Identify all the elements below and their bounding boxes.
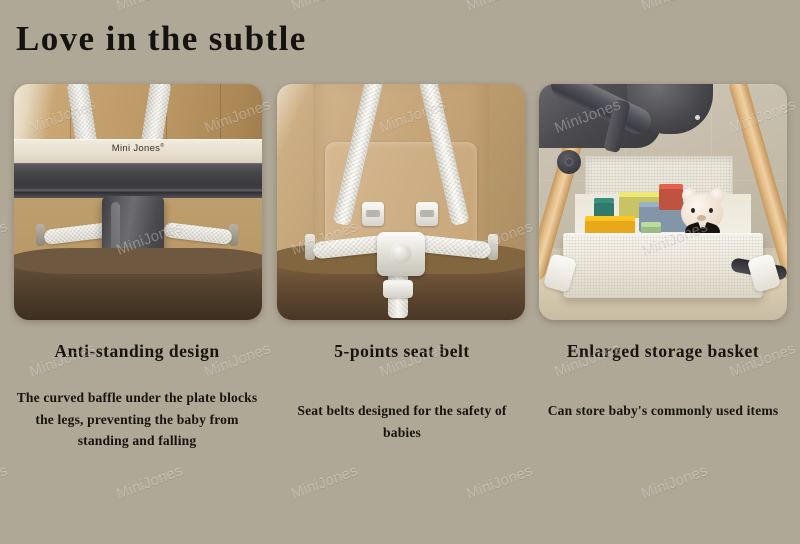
watermark-text: MiniJones: [464, 0, 535, 15]
feature-image-anti-standing-design: Mini Jones®: [14, 84, 262, 320]
page-title: Love in the subtle: [16, 19, 307, 59]
feature-description: The curved baffle under the plate blocks…: [12, 387, 262, 452]
teddy-bear-snout: [697, 215, 706, 221]
chair-adjust-knob: [557, 150, 581, 174]
buckle-release-button-icon: [390, 242, 412, 264]
feature-caption-5-points-seat-belt: 5-points seat belt Seat belts designed f…: [277, 340, 527, 443]
watermark-text: MiniJones: [0, 462, 10, 503]
crotch-strap-adjuster: [383, 280, 413, 298]
feature-image-5-points-seat-belt: [277, 84, 525, 320]
feature-caption-enlarged-storage-basket: Enlarged storage basket Can store baby's…: [538, 340, 788, 422]
feature-heading: Anti-standing design: [12, 340, 262, 362]
strap-adjuster-right: [416, 202, 438, 226]
teddy-bear-eye-right: [709, 208, 713, 213]
toy-block-red: [659, 188, 683, 210]
feature-description: Seat belts designed for the safety of ba…: [277, 400, 527, 443]
teddy-bear-eye-left: [691, 208, 695, 213]
watermark-text: MiniJones: [639, 462, 710, 503]
watermark-text: MiniJones: [289, 462, 360, 503]
tray-front-bar: [14, 163, 262, 194]
watermark-text: MiniJones: [114, 0, 185, 15]
feature-image-enlarged-storage-basket: [539, 84, 787, 320]
feature-heading: 5-points seat belt: [277, 340, 527, 362]
strap-adjuster-left: [362, 202, 384, 226]
watermark-text: MiniJones: [639, 0, 710, 15]
seat-pan: [14, 260, 262, 320]
watermark-text: MiniJones: [464, 462, 535, 503]
feature-description: Can store baby's commonly used items: [538, 400, 788, 422]
watermark-text: MiniJones: [289, 0, 360, 15]
brand-logo: Mini Jones®: [14, 143, 262, 154]
watermark-text: MiniJones: [0, 0, 10, 15]
feature-heading: Enlarged storage basket: [538, 340, 788, 362]
feature-image-row: Mini Jones®: [0, 84, 800, 322]
watermark-text: MiniJones: [114, 462, 185, 503]
feature-caption-anti-standing-design: Anti-standing design The curved baffle u…: [12, 340, 262, 452]
brand-logo-mark: ®: [160, 143, 164, 149]
brand-logo-text: Mini Jones: [112, 143, 160, 154]
